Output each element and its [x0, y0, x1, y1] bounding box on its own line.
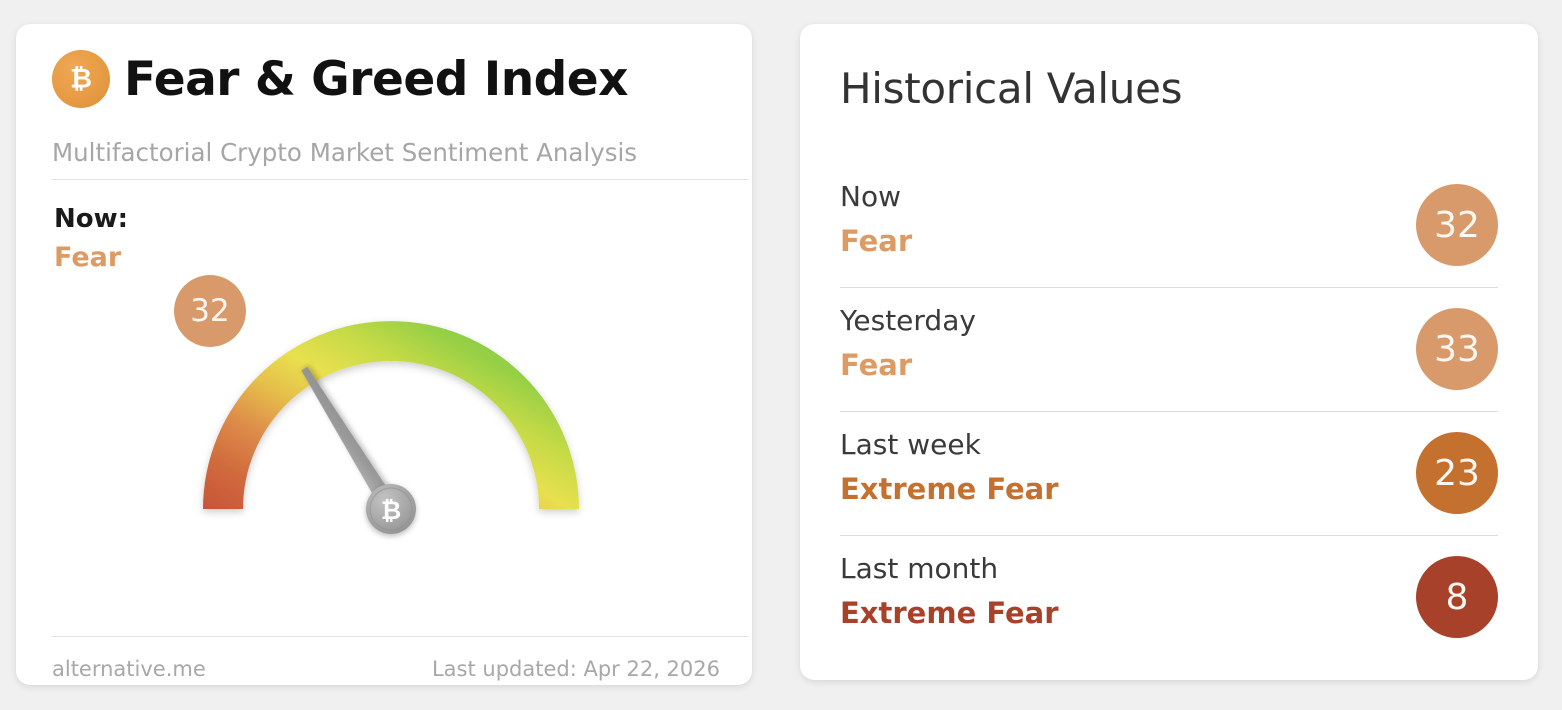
fear-greed-gauge-card: ₿ Fear & Greed Index Multifactorial Cryp…	[16, 24, 752, 685]
source-link[interactable]: alternative.me	[52, 657, 206, 681]
gauge-arc	[203, 321, 579, 509]
header-divider	[52, 179, 748, 180]
historical-period-label: Last month	[840, 552, 998, 585]
historical-values-title: Historical Values	[840, 64, 1182, 113]
historical-period-label: Yesterday	[840, 304, 976, 337]
historical-values-card: Historical Values NowFear32YesterdayFear…	[800, 24, 1538, 680]
historical-row: Last monthExtreme Fear8	[840, 536, 1498, 660]
historical-values-list: NowFear32YesterdayFear33Last weekExtreme…	[840, 164, 1498, 660]
historical-value-badge: 23	[1416, 432, 1498, 514]
historical-period-label: Last week	[840, 428, 981, 461]
historical-classification-label: Fear	[840, 348, 912, 382]
gauge-needle-hub: ₿	[366, 484, 416, 534]
historical-classification-label: Extreme Fear	[840, 472, 1059, 506]
last-updated-text: Last updated: Apr 22, 2026	[432, 657, 720, 681]
footer-divider	[52, 636, 748, 637]
historical-row: NowFear32	[840, 164, 1498, 288]
svg-text:₿: ₿	[381, 496, 401, 525]
page-root: ₿ Fear & Greed Index Multifactorial Cryp…	[0, 0, 1562, 710]
page-title: Fear & Greed Index	[124, 56, 628, 103]
historical-value-badge: 8	[1416, 556, 1498, 638]
gauge-card-header: ₿ Fear & Greed Index	[52, 50, 628, 108]
historical-classification-label: Extreme Fear	[840, 596, 1059, 630]
historical-value-badge: 32	[1416, 184, 1498, 266]
now-label: Now:	[54, 204, 128, 234]
svg-text:₿: ₿	[70, 64, 92, 95]
now-classification: Fear	[54, 242, 121, 273]
page-subtitle: Multifactorial Crypto Market Sentiment A…	[52, 138, 637, 167]
historical-classification-label: Fear	[840, 224, 912, 258]
bitcoin-icon: ₿	[52, 50, 110, 108]
historical-row: Last weekExtreme Fear23	[840, 412, 1498, 536]
historical-value-badge: 33	[1416, 308, 1498, 390]
fear-greed-gauge: ₿	[136, 269, 656, 619]
historical-period-label: Now	[840, 180, 901, 213]
historical-row: YesterdayFear33	[840, 288, 1498, 412]
